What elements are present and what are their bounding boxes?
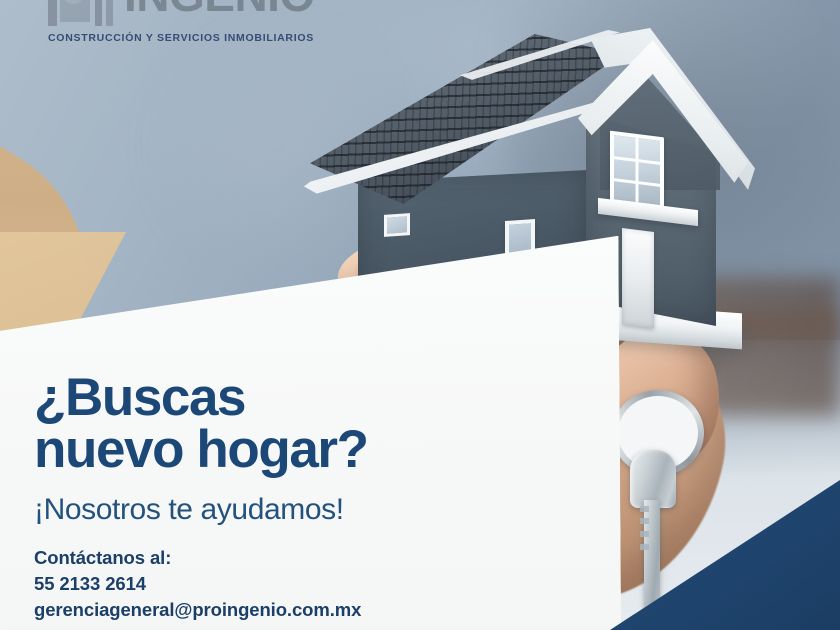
house-small-window <box>384 213 410 237</box>
house-front-door <box>622 228 654 328</box>
logo-tagline: CONSTRUCCIÓN Y SERVICIOS INMOBILIARIOS <box>48 32 314 44</box>
promotional-poster: INGENIO CONSTRUCCIÓN Y SERVICIOS INMOBIL… <box>0 0 840 630</box>
subheadline: ¡Nosotros te ayudamos! <box>34 493 514 527</box>
headline: ¿Buscas nuevo hogar? <box>34 372 514 477</box>
brand-logo[interactable]: INGENIO CONSTRUCCIÓN Y SERVICIOS INMOBIL… <box>46 0 308 52</box>
contact-block: Contáctanos al: 55 2133 2614 gerenciagen… <box>34 545 514 624</box>
proingenio-monogram-icon <box>46 0 120 26</box>
marketing-copy: ¿Buscas nuevo hogar? ¡Nosotros te ayudam… <box>34 372 514 624</box>
house-upper-window <box>610 131 664 210</box>
logo-wordmark: INGENIO <box>124 0 315 22</box>
contact-email[interactable]: gerenciageneral@proingenio.com.mx <box>34 597 514 623</box>
key-teeth <box>640 506 649 550</box>
contact-phone[interactable]: 55 2133 2614 <box>34 571 514 597</box>
contact-label: Contáctanos al: <box>34 545 514 571</box>
